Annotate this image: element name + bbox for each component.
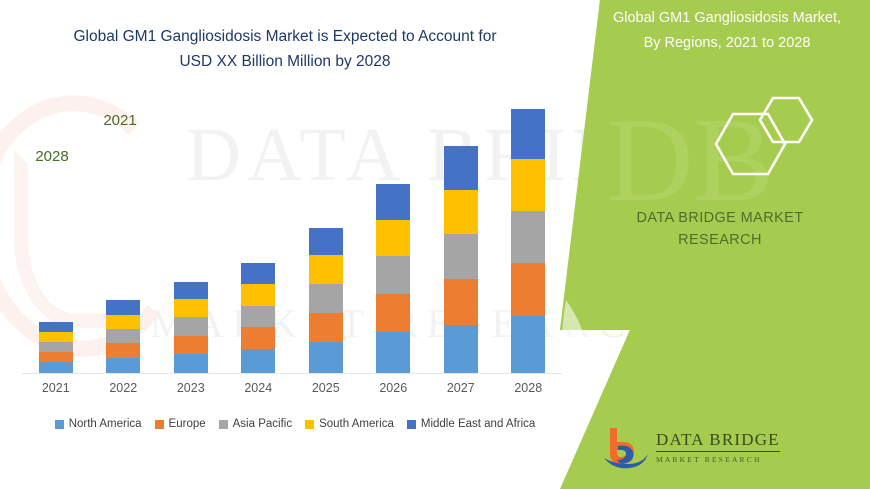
bar-segment	[174, 282, 208, 299]
logo-name: DATA BRIDGE	[656, 430, 780, 452]
bar-segment	[174, 317, 208, 335]
legend-label: Middle East and Africa	[421, 418, 535, 430]
bar-segment	[444, 190, 478, 234]
bar-segment	[106, 343, 140, 358]
legend-swatch-icon	[219, 420, 228, 429]
bar-segment	[39, 342, 73, 352]
bar-segment	[174, 354, 208, 373]
stacked-bar	[511, 109, 545, 373]
x-axis-label: 2021	[26, 381, 86, 395]
bar-segment	[241, 306, 275, 327]
bar-column	[26, 95, 86, 373]
bar-segment	[511, 316, 545, 373]
stacked-bar-chart	[22, 95, 562, 373]
bar-segment	[309, 255, 343, 284]
legend-item[interactable]: South America	[305, 418, 394, 430]
bar-segment	[106, 300, 140, 315]
legend-label: South America	[319, 418, 394, 430]
bar-segment	[376, 256, 410, 293]
bar-segment	[511, 159, 545, 210]
bar-segment	[444, 325, 478, 373]
legend-item[interactable]: Asia Pacific	[219, 418, 292, 430]
x-axis-line	[22, 373, 562, 374]
bar-segment	[241, 263, 275, 284]
data-bridge-logo: DATA BRIDGE MARKET RESEARCH	[600, 424, 800, 476]
logo-tagline: MARKET RESEARCH	[656, 455, 806, 464]
bar-segment	[241, 349, 275, 373]
legend-swatch-icon	[155, 420, 164, 429]
stacked-bar	[309, 228, 343, 373]
bar-segment	[309, 284, 343, 313]
panel-title-line-1: Global GM1 Gangliosidosis Market,	[588, 6, 866, 31]
hexagon-label-start: 2028	[20, 148, 84, 165]
legend-label: Asia Pacific	[233, 418, 292, 430]
stacked-bar	[376, 184, 410, 373]
legend-item[interactable]: Europe	[155, 418, 206, 430]
bar-column	[363, 95, 423, 373]
panel-brand-line-1: DATA BRIDGE MARKET	[570, 210, 870, 226]
bar-column	[431, 95, 491, 373]
bar-column	[296, 95, 356, 373]
x-axis-label: 2024	[228, 381, 288, 395]
hexagon-group	[660, 92, 820, 197]
bar-segment	[376, 220, 410, 256]
bar-column	[161, 95, 221, 373]
stacked-bar	[241, 263, 275, 373]
bar-segment	[106, 358, 140, 373]
legend-label: North America	[69, 418, 142, 430]
legend-item[interactable]: North America	[55, 418, 142, 430]
bar-column	[228, 95, 288, 373]
bar-segment	[309, 228, 343, 256]
legend-swatch-icon	[305, 420, 314, 429]
legend-label: Europe	[169, 418, 206, 430]
bar-segment	[39, 362, 73, 373]
logo-mark-icon	[600, 424, 654, 472]
panel-title: Global GM1 Gangliosidosis Market, By Reg…	[588, 6, 866, 56]
bar-segment	[174, 299, 208, 317]
bar-segment	[376, 332, 410, 373]
bar-segment	[511, 263, 545, 316]
bar-segment	[376, 184, 410, 220]
panel-title-line-2: By Regions, 2021 to 2028	[588, 31, 866, 56]
bar-segment	[444, 234, 478, 279]
bar-segment	[376, 294, 410, 332]
x-axis-label: 2027	[431, 381, 491, 395]
bar-segment	[174, 336, 208, 354]
bar-segment	[106, 329, 140, 343]
infographic-canvas: DATA BRIDGE MARKET RESEARCH DB Global GM…	[0, 0, 870, 489]
bar-segment	[511, 211, 545, 263]
bar-segment	[241, 284, 275, 305]
x-axis-label: 2025	[296, 381, 356, 395]
x-axis-label: 2026	[363, 381, 423, 395]
hexagon-shapes-icon	[660, 92, 820, 197]
bar-segment	[39, 322, 73, 333]
chart-title-line-2: USD XX Billion Million by 2028	[30, 49, 540, 74]
stacked-bar	[174, 282, 208, 373]
chart-title-line-1: Global GM1 Gangliosidosis Market is Expe…	[30, 24, 540, 49]
panel-brand-line-2: RESEARCH	[570, 232, 870, 248]
stacked-bar	[39, 322, 73, 373]
bar-segment	[309, 342, 343, 373]
x-axis-label: 2022	[93, 381, 153, 395]
bar-column	[498, 95, 558, 373]
bar-segment	[444, 279, 478, 325]
bar-segment	[309, 313, 343, 342]
legend-swatch-icon	[55, 420, 64, 429]
x-axis-labels: 20212022202320242025202620272028	[22, 381, 562, 395]
bar-segment	[106, 315, 140, 329]
x-axis-label: 2028	[498, 381, 558, 395]
bar-column	[93, 95, 153, 373]
legend-swatch-icon	[407, 420, 416, 429]
legend-item[interactable]: Middle East and Africa	[407, 418, 535, 430]
bar-segment	[39, 332, 73, 342]
bar-segment	[39, 352, 73, 363]
chart-title: Global GM1 Gangliosidosis Market is Expe…	[30, 24, 540, 74]
bar-segment	[511, 109, 545, 159]
logo-text-block: DATA BRIDGE MARKET RESEARCH	[656, 430, 806, 464]
bar-segment	[241, 327, 275, 349]
hexagon-label-end: 2021	[88, 112, 152, 129]
x-axis-label: 2023	[161, 381, 221, 395]
stacked-bar	[106, 300, 140, 373]
stacked-bar	[444, 146, 478, 373]
chart-legend: North AmericaEuropeAsia PacificSouth Ame…	[22, 418, 568, 430]
bar-segment	[444, 146, 478, 190]
